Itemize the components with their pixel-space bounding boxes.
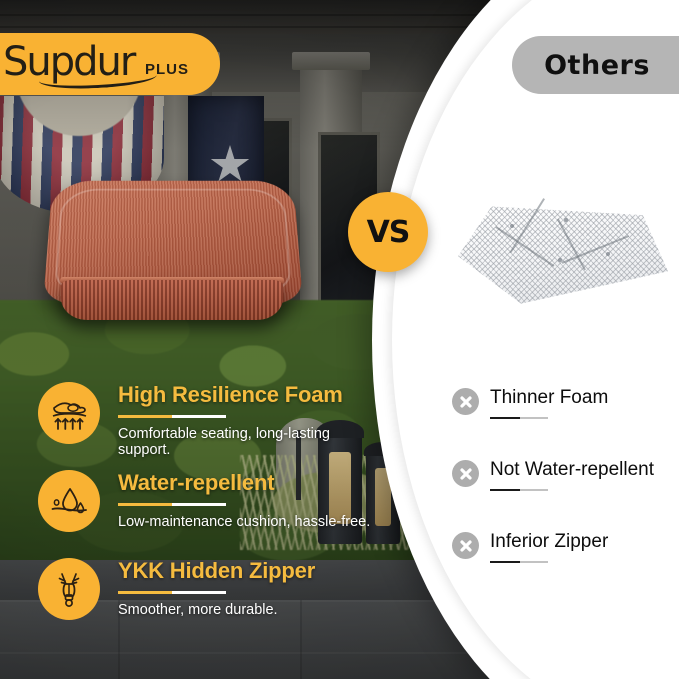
vs-badge: VS xyxy=(348,192,428,272)
feature-subtitle: Low-maintenance cushion, hassle-free. xyxy=(118,514,378,530)
drawback-label: Inferior Zipper xyxy=(490,531,608,553)
drawback-row-not-water-repellent: Not Water-repellent xyxy=(452,458,678,530)
drawback-label: Not Water-repellent xyxy=(490,459,654,481)
x-circle-icon xyxy=(452,388,479,415)
feature-title: High Resilience Foam xyxy=(118,382,378,408)
feature-divider xyxy=(118,584,378,602)
drawback-row-inferior-zipper: Inferior Zipper xyxy=(452,530,678,602)
feature-text: High Resilience Foam Comfortable seating… xyxy=(118,382,378,458)
competitor-cushion-image xyxy=(458,200,668,318)
pad-top xyxy=(458,200,668,308)
pad-tuft xyxy=(564,218,568,222)
competitor-drawback-list: Thinner Foam Not Water-repellent Inferio… xyxy=(452,386,678,602)
hand-press-foam-icon xyxy=(38,382,100,444)
feature-divider xyxy=(118,408,378,426)
x-circle-icon xyxy=(452,532,479,559)
vs-label: VS xyxy=(367,215,410,250)
feature-row-ykk-hidden-zipper: YKK Hidden Zipper Smoother, more durable… xyxy=(38,554,378,642)
comparison-infographic: Supdur PLUS Others VS xyxy=(0,0,679,679)
drawback-divider-light xyxy=(520,417,548,419)
brand-logo: Supdur PLUS xyxy=(0,40,195,88)
feature-divider xyxy=(118,496,378,514)
drawback-row-thinner-foam: Thinner Foam xyxy=(452,386,678,458)
feature-row-water-repellent: Water-repellent Low-maintenance cushion,… xyxy=(38,466,378,554)
pad-tuft xyxy=(606,252,610,256)
drawback-divider-light xyxy=(520,561,548,563)
feature-title: Water-repellent xyxy=(118,470,378,496)
brand-feature-list: High Resilience Foam Comfortable seating… xyxy=(38,378,378,642)
drawback-divider xyxy=(490,561,520,563)
x-circle-icon xyxy=(452,460,479,487)
cushion-side-wall xyxy=(61,280,283,320)
pad-tuft xyxy=(510,224,514,228)
drawback-divider-light xyxy=(520,489,548,491)
drawback-label: Thinner Foam xyxy=(490,387,608,409)
feature-row-high-resilience-foam: High Resilience Foam Comfortable seating… xyxy=(38,378,378,466)
pad-tuft xyxy=(558,258,562,262)
feature-subtitle: Smoother, more durable. xyxy=(118,602,378,618)
water-droplet-icon xyxy=(38,470,100,532)
brand-cushion-image xyxy=(48,176,298,324)
brand-logo-badge: Supdur PLUS xyxy=(0,33,220,95)
brand-suffix: PLUS xyxy=(145,61,189,78)
others-badge: Others xyxy=(512,36,679,94)
feature-text: Water-repellent Low-maintenance cushion,… xyxy=(118,470,378,530)
drawback-divider xyxy=(490,417,520,419)
feature-title: YKK Hidden Zipper xyxy=(118,558,378,584)
drawback-divider xyxy=(490,489,520,491)
others-label: Others xyxy=(544,50,650,81)
zipper-icon xyxy=(38,558,100,620)
feature-text: YKK Hidden Zipper Smoother, more durable… xyxy=(118,558,378,618)
feature-subtitle: Comfortable seating, long-lasting suppor… xyxy=(118,426,378,458)
